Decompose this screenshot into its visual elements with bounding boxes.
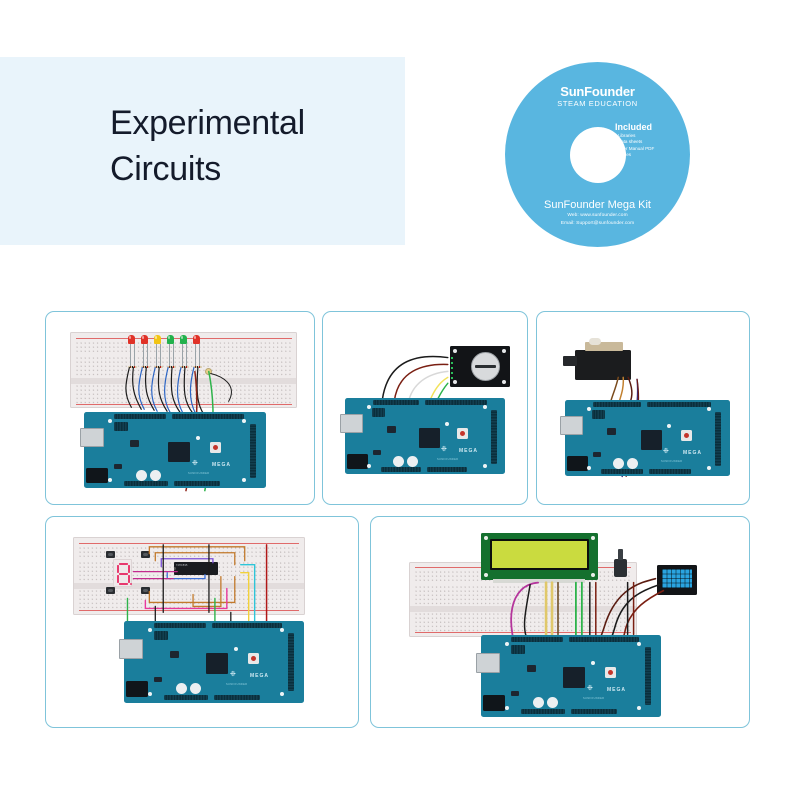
board-brand-label: SUNFOUNDER bbox=[661, 460, 682, 463]
page-root: Experimental Circuits SunFounder STEAM E… bbox=[0, 0, 800, 800]
cd-kit-name: SunFounder Mega Kit bbox=[505, 199, 690, 211]
board-brand-label: SUNFOUNDER bbox=[583, 697, 604, 700]
board-label-mega: MEGA bbox=[607, 687, 626, 693]
cd-web-url: Web: www.sunfounder.com bbox=[505, 213, 690, 218]
circuit-card-lcd-dht[interactable]: ❉ MEGA SUNFOUNDER bbox=[370, 516, 750, 728]
circuit-figure-leds: ❉ MEGA SUNFOUNDER bbox=[46, 312, 314, 504]
circuit-card-rotary[interactable]: ❉ MEGA SUNFOUNDER bbox=[322, 311, 528, 505]
board-label-mega: MEGA bbox=[250, 673, 269, 679]
cd-email: Email: Support@sunfounder.com bbox=[505, 221, 690, 226]
page-title: Experimental Circuits bbox=[110, 100, 410, 192]
arduino-mega-board: ❉ MEGA SUNFOUNDER bbox=[124, 621, 304, 703]
cd-disc: SunFounder STEAM EDUCATION Included Libr… bbox=[505, 62, 690, 247]
circuit-figure-seven-segment: 74HC595 bbox=[46, 517, 358, 727]
board-brand-label: SUNFOUNDER bbox=[226, 683, 247, 686]
board-brand-label: SUNFOUNDER bbox=[188, 472, 209, 475]
circuit-card-servo[interactable]: ❉ MEGA SUNFOUNDER bbox=[536, 311, 750, 505]
arduino-mega-board: ❉ MEGA SUNFOUNDER bbox=[84, 412, 266, 488]
cd-included-title: Included bbox=[615, 122, 677, 132]
board-label-mega: MEGA bbox=[459, 448, 478, 454]
board-label-mega: MEGA bbox=[683, 450, 702, 456]
circuit-card-seven-segment[interactable]: 74HC595 bbox=[45, 516, 359, 728]
board-brand-label: SUNFOUNDER bbox=[437, 458, 458, 461]
arduino-mega-board: ❉ MEGA SUNFOUNDER bbox=[565, 400, 730, 476]
page-title-line1: Experimental bbox=[110, 104, 305, 142]
circuit-figure-servo: ❉ MEGA SUNFOUNDER bbox=[537, 312, 749, 504]
cd-center-hole bbox=[570, 127, 626, 183]
sunfounder-cd: SunFounder STEAM EDUCATION Included Libr… bbox=[505, 62, 690, 247]
arduino-mega-board: ❉ MEGA SUNFOUNDER bbox=[481, 635, 661, 717]
circuit-figure-lcd-dht: ❉ MEGA SUNFOUNDER bbox=[371, 517, 749, 727]
board-label-mega: MEGA bbox=[212, 462, 231, 468]
cd-tagline-label: STEAM EDUCATION bbox=[505, 99, 690, 108]
page-title-line2: Circuits bbox=[110, 146, 410, 192]
arduino-mega-board: ❉ MEGA SUNFOUNDER bbox=[345, 398, 505, 474]
circuit-figure-rotary: ❉ MEGA SUNFOUNDER bbox=[323, 312, 527, 504]
circuit-card-leds[interactable]: ❉ MEGA SUNFOUNDER bbox=[45, 311, 315, 505]
cd-brand-label: SunFounder bbox=[505, 84, 690, 99]
